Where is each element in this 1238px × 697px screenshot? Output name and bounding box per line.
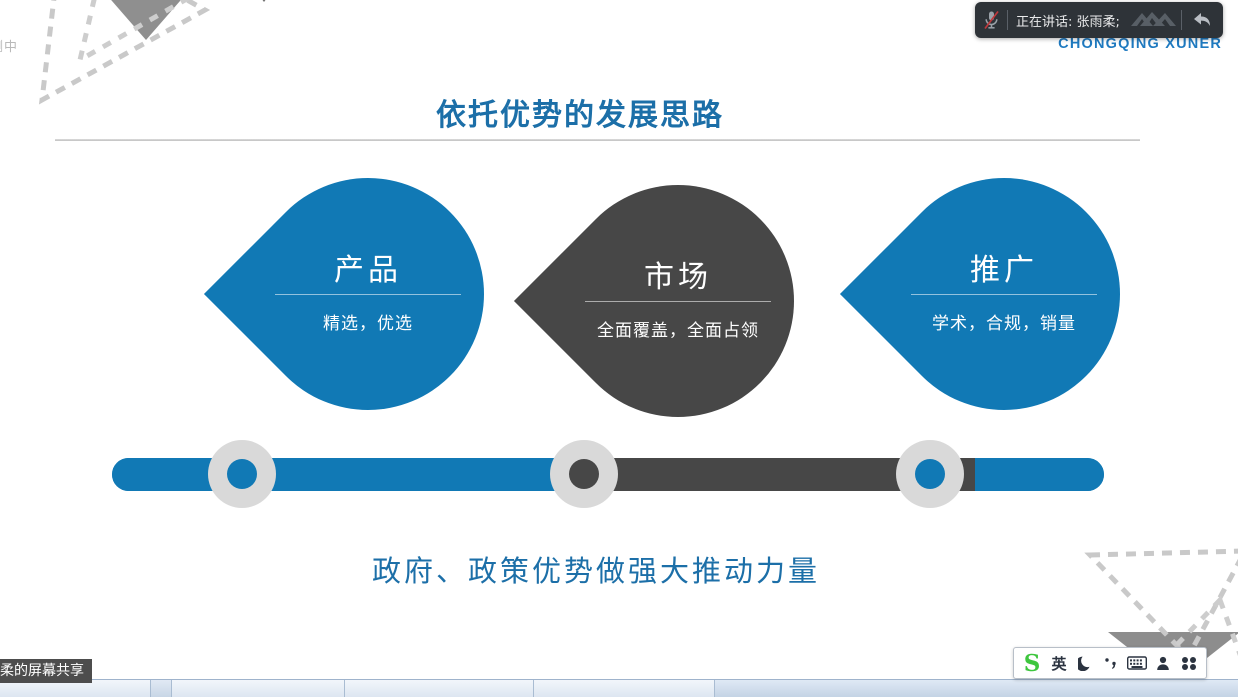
punctuation-icon[interactable] <box>1098 650 1124 676</box>
timeline-node-promotion <box>896 440 964 508</box>
decorative-triangle-top-left-small <box>232 0 296 2</box>
timeline-node-core <box>569 459 599 489</box>
pin-subtitle: 精选，优选 <box>323 309 413 334</box>
pin-shape-market: 市场 全面覆盖，全面占领 <box>514 137 842 465</box>
pin-divider <box>585 301 771 302</box>
screen-share-status-label: 柔的屏幕共享 <box>0 659 92 683</box>
decorative-triangle-top-left <box>78 0 214 40</box>
slide-caption: 政府、政策优势做强大推动力量 <box>0 548 1192 590</box>
slide-title: 依托优势的发展思路 <box>0 90 1160 134</box>
apps-grid-icon[interactable] <box>1176 650 1202 676</box>
back-arrow-icon[interactable] <box>1182 2 1223 38</box>
presentation-slide: 测中 S CHONGQING XUNER 依托优势的发展思路 产品 精选，优选 … <box>0 0 1238 680</box>
brand-wordmark: CHONGQING XUNER <box>1058 36 1222 52</box>
taskbar-empty-area <box>715 680 1238 697</box>
pin-divider <box>911 294 1097 295</box>
taskbar-button[interactable] <box>345 680 534 697</box>
windows-taskbar[interactable] <box>0 679 1238 697</box>
moon-icon[interactable] <box>1072 650 1098 676</box>
sogou-logo-icon[interactable]: S <box>1018 650 1046 676</box>
timeline-node-core <box>227 459 257 489</box>
pin-heading: 推广 <box>970 254 1038 287</box>
double-chevron-icon[interactable] <box>1128 2 1179 38</box>
keyboard-icon[interactable] <box>1124 650 1150 676</box>
ime-toolbar[interactable]: S 英 <box>1013 647 1207 679</box>
mic-muted-icon[interactable] <box>975 2 1007 38</box>
taskbar-button[interactable] <box>172 680 345 697</box>
speaking-status-label: 正在讲话: 张雨柔; <box>1008 11 1128 30</box>
pin-shape-promotion: 推广 学术，合规，销量 <box>840 130 1168 458</box>
taskbar-button[interactable] <box>151 680 172 697</box>
timeline-segment <box>975 458 1104 491</box>
pin-subtitle: 学术，合规，销量 <box>932 309 1076 334</box>
person-icon[interactable] <box>1150 650 1176 676</box>
pin-heading: 产品 <box>334 254 402 287</box>
taskbar-button[interactable] <box>534 680 715 697</box>
pin-shape-product: 产品 精选，优选 <box>204 130 532 458</box>
pin-divider <box>275 294 461 295</box>
timeline-node-market <box>550 440 618 508</box>
speaker-toolbar[interactable]: 正在讲话: 张雨柔; <box>975 2 1223 38</box>
timeline-node-core <box>915 459 945 489</box>
title-divider <box>55 139 1140 141</box>
pin-subtitle: 全面覆盖，全面占领 <box>597 316 759 341</box>
ime-language-toggle[interactable]: 英 <box>1046 650 1072 676</box>
pin-heading: 市场 <box>644 261 712 294</box>
timeline-node-product <box>208 440 276 508</box>
corner-label: 测中 <box>0 36 18 55</box>
